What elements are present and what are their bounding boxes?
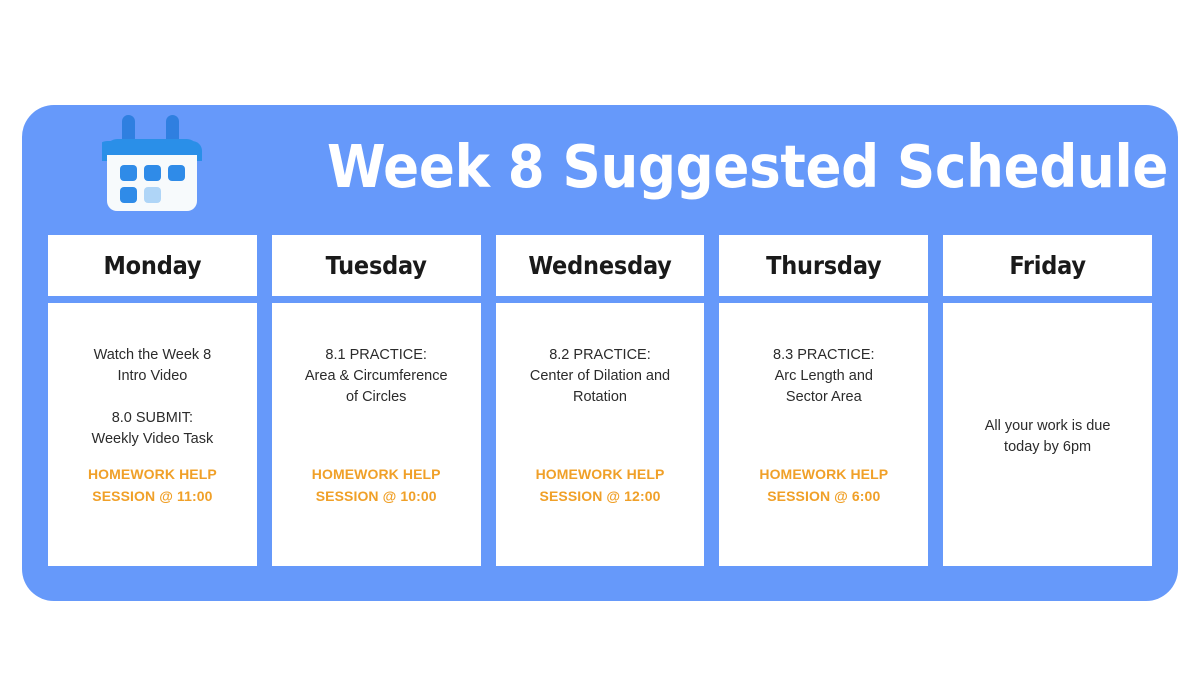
page-title: Week 8 Suggested Schedule <box>327 133 1117 201</box>
day-header-card-friday: Friday <box>943 235 1152 296</box>
day-header-card-monday: Monday <box>48 235 257 296</box>
task-list: 8.3 PRACTICE: Arc Length and Sector Area <box>727 317 920 408</box>
day-header-card-wednesday: Wednesday <box>496 235 705 296</box>
homework-help-session: HOMEWORK HELP SESSION @ 6:00 <box>727 463 920 507</box>
day-column-monday: Monday Watch the Week 8 Intro Video 8.0 … <box>48 235 257 566</box>
task-item: 8.2 PRACTICE: Center of Dilation and Rot… <box>504 345 697 408</box>
task-item: Watch the Week 8 Intro Video <box>56 345 249 387</box>
task-list: 8.2 PRACTICE: Center of Dilation and Rot… <box>504 317 697 408</box>
day-body-card-friday: All your work is due today by 6pm <box>943 303 1152 566</box>
homework-help-session: HOMEWORK HELP SESSION @ 10:00 <box>280 463 473 507</box>
homework-help-session: HOMEWORK HELP SESSION @ 11:00 <box>56 463 249 507</box>
task-list: 8.1 PRACTICE: Area & Circumference of Ci… <box>280 317 473 408</box>
day-body-card-wednesday: 8.2 PRACTICE: Center of Dilation and Rot… <box>496 303 705 566</box>
homework-help-session: HOMEWORK HELP SESSION @ 12:00 <box>504 463 697 507</box>
day-column-tuesday: Tuesday 8.1 PRACTICE: Area & Circumferen… <box>272 235 481 566</box>
day-column-thursday: Thursday 8.3 PRACTICE: Arc Length and Se… <box>719 235 928 566</box>
day-header-label: Friday <box>1009 251 1086 280</box>
panel-header: Week 8 Suggested Schedule <box>22 105 1178 230</box>
task-item: 8.0 SUBMIT: Weekly Video Task <box>56 408 249 450</box>
schedule-panel: Week 8 Suggested Schedule Monday Watch t… <box>22 105 1178 601</box>
due-date-note: All your work is due today by 6pm <box>951 416 1144 458</box>
days-grid: Monday Watch the Week 8 Intro Video 8.0 … <box>48 235 1152 566</box>
task-item: 8.1 PRACTICE: Area & Circumference of Ci… <box>280 345 473 408</box>
day-body-card-tuesday: 8.1 PRACTICE: Area & Circumference of Ci… <box>272 303 481 566</box>
day-header-label: Monday <box>103 251 201 280</box>
day-header-label: Thursday <box>766 251 881 280</box>
calendar-icon <box>102 115 202 219</box>
day-header-label: Wednesday <box>528 251 671 280</box>
task-list: Watch the Week 8 Intro Video 8.0 SUBMIT:… <box>56 317 249 450</box>
day-header-card-tuesday: Tuesday <box>272 235 481 296</box>
day-header-card-thursday: Thursday <box>719 235 928 296</box>
day-header-label: Tuesday <box>326 251 427 280</box>
day-body-card-thursday: 8.3 PRACTICE: Arc Length and Sector Area… <box>719 303 928 566</box>
day-column-wednesday: Wednesday 8.2 PRACTICE: Center of Dilati… <box>496 235 705 566</box>
day-column-friday: Friday All your work is due today by 6pm <box>943 235 1152 566</box>
day-body-card-monday: Watch the Week 8 Intro Video 8.0 SUBMIT:… <box>48 303 257 566</box>
task-item: 8.3 PRACTICE: Arc Length and Sector Area <box>727 345 920 408</box>
